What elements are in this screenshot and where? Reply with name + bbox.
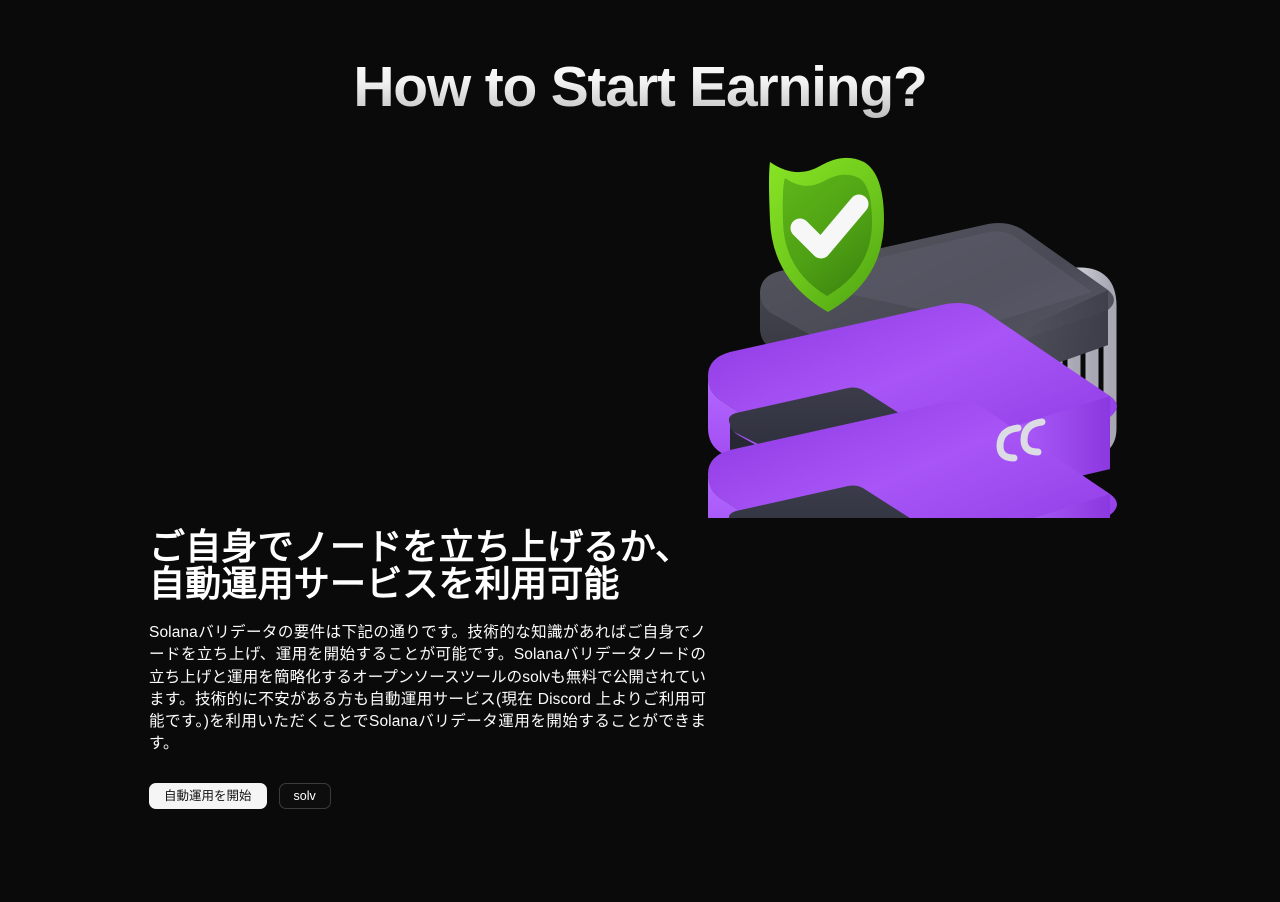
led-orange-upper [777,455,799,477]
server-top-slab [760,223,1114,416]
cable-hooks [1000,422,1042,458]
server-unit-lower [708,401,1117,518]
solv-button[interactable]: solv [279,783,331,809]
cta-button-row: 自動運用を開始 solv [149,783,331,809]
lead-heading: ご自身でノードを立ち上げるか、 自動運用サービスを利用可能 [149,528,709,602]
lead-body-text: Solanaバリデータの要件は下記の通りです。技術的な知識があればご自身でノード… [149,622,706,756]
copy-block: ご自身でノードを立ち上げるか、 自動運用サービスを利用可能 Solanaバリデー… [149,528,709,756]
security-shield-icon [769,158,884,312]
led-green-upper [806,462,828,484]
server-illustration [688,128,1158,518]
server-unit-upper [708,303,1117,518]
checkmark-icon [800,204,859,249]
page-root: How to Start Earning? [0,0,1280,902]
start-auto-operation-button[interactable]: 自動運用を開始 [149,783,267,809]
led-red-upper [747,447,769,469]
page-title: How to Start Earning? [0,52,1280,122]
server-illustration-svg [688,128,1158,518]
cables-group [928,274,1110,468]
